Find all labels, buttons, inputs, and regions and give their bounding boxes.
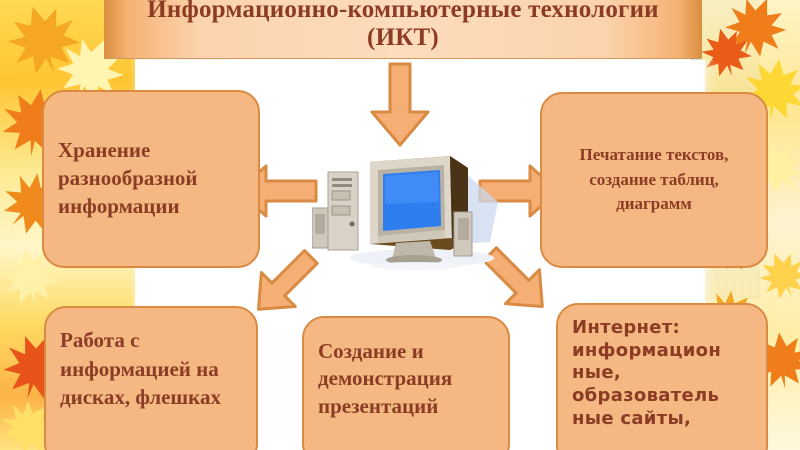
concept-box-storage[interactable]: Хранение разнообразной информации xyxy=(42,90,260,268)
page-title: Информационно-компьютерные технологии (И… xyxy=(123,0,683,52)
desktop-computer-illustration xyxy=(312,146,508,270)
concept-box-presentations-label: Создание и демонстрация презентаций xyxy=(304,318,508,420)
concept-box-internet[interactable]: Интернет: информацион ные, образователь … xyxy=(556,303,768,450)
arrow-down-icon xyxy=(368,62,432,148)
concept-box-printing[interactable]: Печатание текстов, создание таблиц, диаг… xyxy=(540,92,768,268)
presentation-slide: Информационно-компьютерные технологии (И… xyxy=(0,0,800,450)
concept-box-internet-label: Интернет: информацион ные, образователь … xyxy=(558,305,766,430)
slide-title-bar: Информационно-компьютерные технологии (И… xyxy=(104,0,702,58)
concept-box-storage-label: Хранение разнообразной информации xyxy=(44,137,258,221)
concept-box-presentations[interactable]: Создание и демонстрация презентаций xyxy=(302,316,510,450)
concept-box-disks-label: Работа с информацией на дисках, флешках xyxy=(46,308,256,412)
concept-box-disks[interactable]: Работа с информацией на дисках, флешках xyxy=(44,306,258,450)
concept-box-printing-label: Печатание текстов, создание таблиц, диаг… xyxy=(542,143,766,217)
